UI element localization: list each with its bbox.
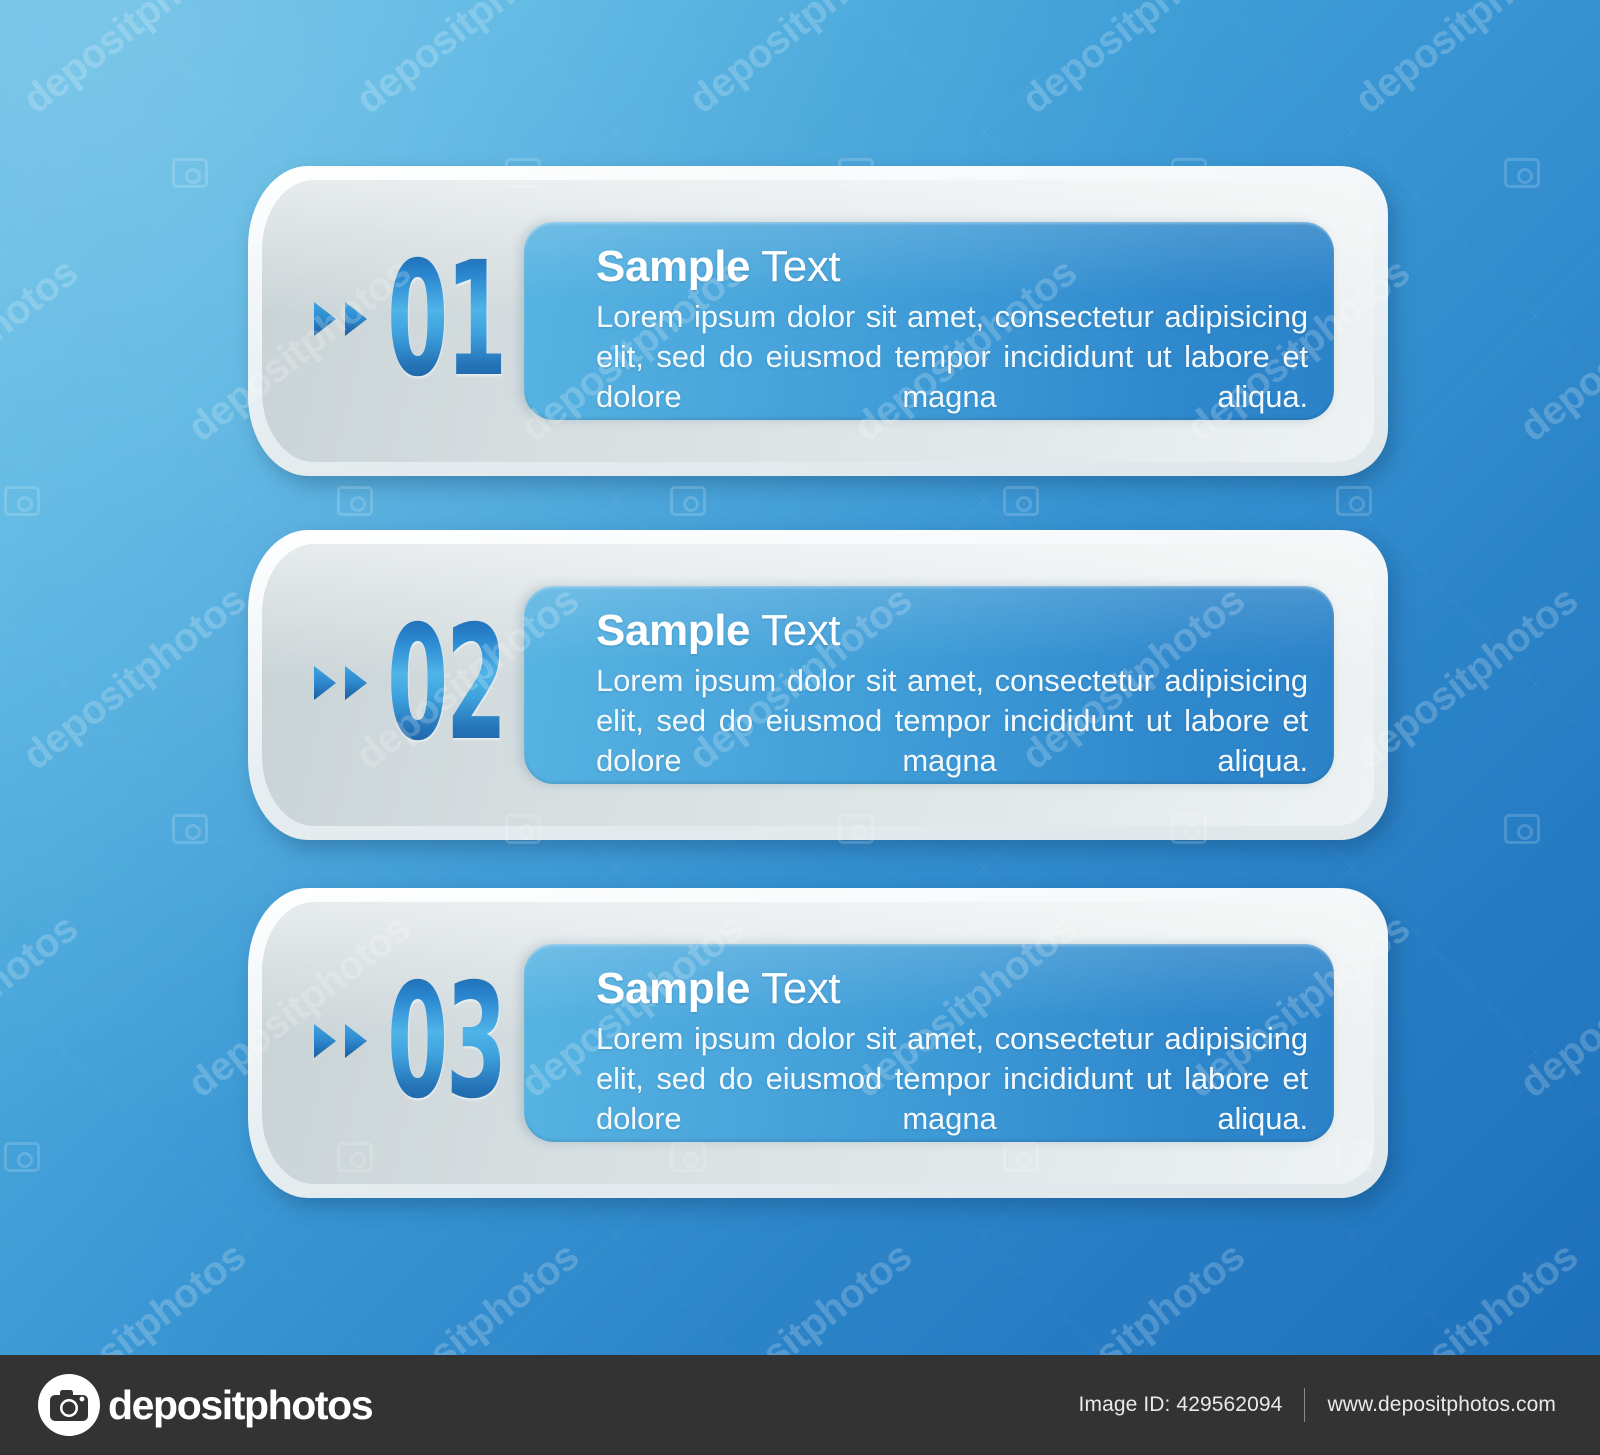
card-number: 02 bbox=[387, 617, 505, 753]
meta-divider bbox=[1304, 1388, 1305, 1422]
infographic-card-02[interactable]: 02 Sample Text Lorem ipsum dolor sit ame… bbox=[248, 530, 1388, 840]
depositphotos-logo: depositphotos bbox=[38, 1374, 372, 1436]
card-headline: Sample Text bbox=[596, 606, 1308, 655]
card-left-block: 03 bbox=[302, 902, 524, 1184]
card-headline-light: Text bbox=[750, 964, 840, 1013]
artwork-canvas: 01 Sample Text Lorem ipsum dolor sit ame… bbox=[0, 0, 1600, 1455]
card-content-panel: Sample Text Lorem ipsum dolor sit amet, … bbox=[524, 222, 1334, 420]
card-headline-strong: Sample bbox=[596, 242, 750, 291]
card-body-text: Lorem ipsum dolor sit amet, consectetur … bbox=[596, 661, 1308, 780]
card-grey-plate: 01 Sample Text Lorem ipsum dolor sit ame… bbox=[262, 180, 1374, 462]
infographic-card-list: 01 Sample Text Lorem ipsum dolor sit ame… bbox=[0, 0, 1600, 1355]
card-body-text: Lorem ipsum dolor sit amet, consectetur … bbox=[596, 297, 1308, 416]
card-content-panel: Sample Text Lorem ipsum dolor sit amet, … bbox=[524, 586, 1334, 784]
website-label[interactable]: www.depositphotos.com bbox=[1327, 1393, 1556, 1417]
card-grey-plate: 02 Sample Text Lorem ipsum dolor sit ame… bbox=[262, 544, 1374, 826]
infographic-card-01[interactable]: 01 Sample Text Lorem ipsum dolor sit ame… bbox=[248, 166, 1388, 476]
double-chevron-right-icon bbox=[312, 1022, 369, 1060]
double-chevron-right-icon bbox=[312, 664, 369, 702]
card-body-text: Lorem ipsum dolor sit amet, consectetur … bbox=[596, 1019, 1308, 1138]
card-left-block: 02 bbox=[302, 544, 524, 826]
logo-wordmark: depositphotos bbox=[108, 1382, 372, 1429]
card-text-container: Sample Text Lorem ipsum dolor sit amet, … bbox=[596, 964, 1308, 1138]
card-headline: Sample Text bbox=[596, 242, 1308, 291]
card-number: 01 bbox=[387, 253, 505, 389]
card-left-block: 01 bbox=[302, 180, 524, 462]
card-text-container: Sample Text Lorem ipsum dolor sit amet, … bbox=[596, 606, 1308, 780]
image-id-label: Image ID: 429562094 bbox=[1079, 1393, 1283, 1417]
card-headline-strong: Sample bbox=[596, 606, 750, 655]
infographic-card-03[interactable]: 03 Sample Text Lorem ipsum dolor sit ame… bbox=[248, 888, 1388, 1198]
footer-meta: Image ID: 429562094 www.depositphotos.co… bbox=[1079, 1388, 1556, 1422]
card-content-panel: Sample Text Lorem ipsum dolor sit amet, … bbox=[524, 944, 1334, 1142]
card-headline-strong: Sample bbox=[596, 964, 750, 1013]
card-number: 03 bbox=[387, 975, 505, 1111]
card-text-container: Sample Text Lorem ipsum dolor sit amet, … bbox=[596, 242, 1308, 416]
double-chevron-right-icon bbox=[312, 300, 369, 338]
card-headline-light: Text bbox=[750, 242, 840, 291]
watermark-footer-bar: depositphotos Image ID: 429562094 www.de… bbox=[0, 1355, 1600, 1455]
camera-icon bbox=[38, 1374, 100, 1436]
card-headline: Sample Text bbox=[596, 964, 1308, 1013]
card-grey-plate: 03 Sample Text Lorem ipsum dolor sit ame… bbox=[262, 902, 1374, 1184]
card-headline-light: Text bbox=[750, 606, 840, 655]
